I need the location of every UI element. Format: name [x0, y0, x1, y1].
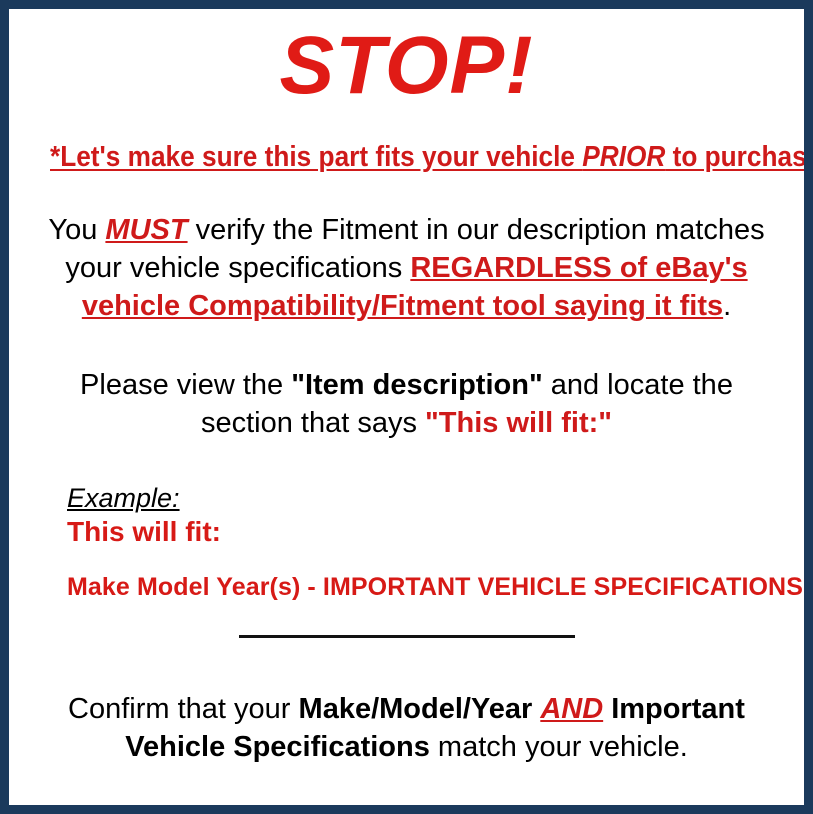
must-paragraph: You MUST verify the Fitment in our descr… — [19, 211, 794, 326]
divider-wrap — [19, 628, 794, 646]
confirm-bold-make-model-year: Make/Model/Year — [299, 693, 533, 725]
tagline-emphasis: PRIOR — [582, 141, 665, 173]
example-block: Example: This will fit: Make Model Year(… — [19, 484, 794, 601]
section-divider — [239, 635, 575, 638]
must-lead: You — [48, 214, 105, 246]
confirm-space-2 — [603, 693, 611, 725]
example-spec-line: Make Model Year(s) - IMPORTANT VEHICLE S… — [67, 574, 794, 602]
fitment-notice-card: STOP! *Let's make sure this part fits yo… — [0, 0, 813, 814]
vin-paragraph: The donor VIN in the listing can also be… — [19, 810, 794, 814]
please-lead: Please view the — [80, 369, 291, 401]
notice-content: STOP! *Let's make sure this part fits yo… — [9, 9, 804, 805]
confirm-emphasis-and: AND — [540, 693, 603, 725]
confirm-tail: match your vehicle. — [430, 731, 688, 763]
example-label: Example: — [67, 484, 180, 514]
must-tail: . — [723, 290, 731, 322]
this-will-fit-quote: "This will fit:" — [425, 407, 612, 439]
please-paragraph: Please view the "Item description" and l… — [19, 366, 794, 443]
item-description-label: "Item description" — [291, 369, 542, 401]
tagline: *Let's make sure this part fits your veh… — [50, 143, 763, 173]
confirm-lead: Confirm that your — [68, 693, 298, 725]
tagline-before: *Let's make sure this part fits your veh… — [50, 141, 582, 173]
tagline-after: to purchasing* — [665, 141, 813, 173]
confirm-paragraph: Confirm that your Make/Model/Year AND Im… — [19, 690, 794, 767]
example-label-row: Example: — [67, 484, 794, 514]
page-title: STOP! — [19, 25, 794, 107]
example-fit-line: This will fit: — [67, 516, 794, 548]
must-emphasis: MUST — [105, 214, 187, 246]
